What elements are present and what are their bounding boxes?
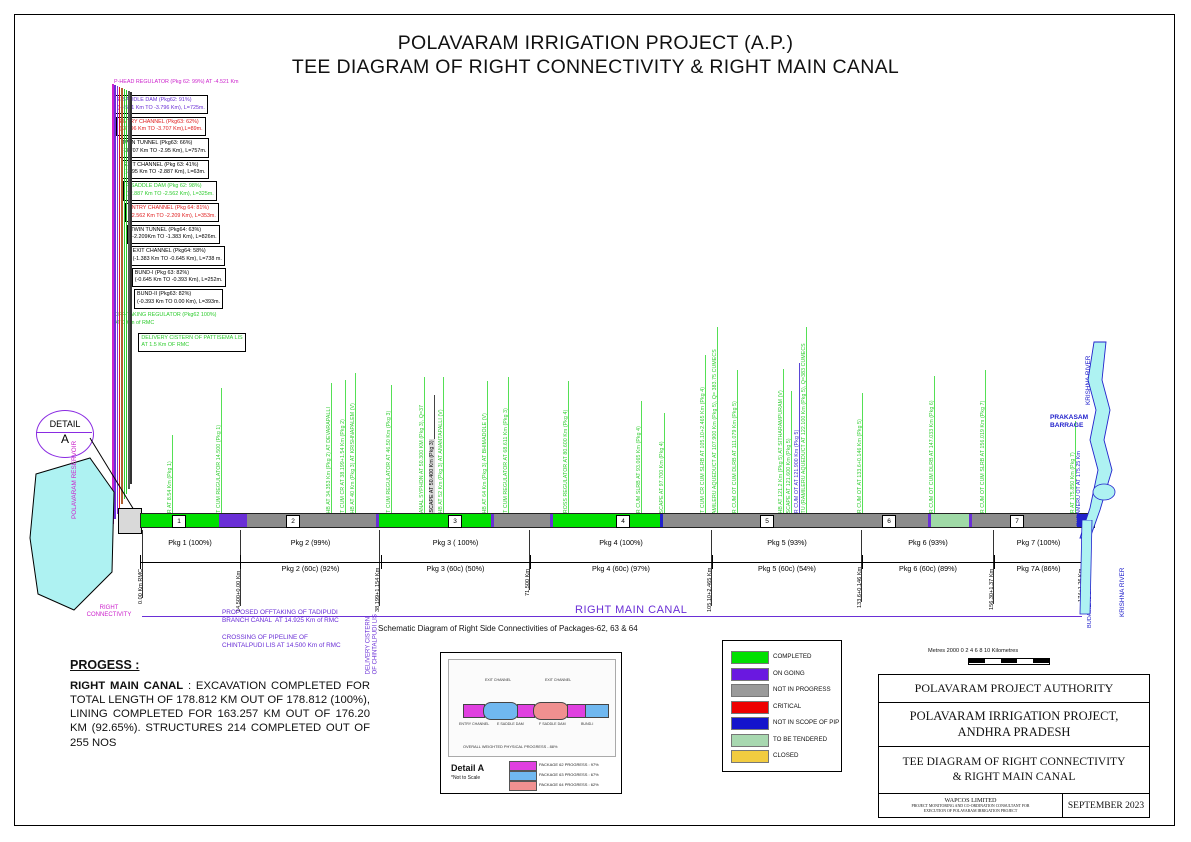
- structure-label-7: ESCAPE AT 50.400 Km (Pkg 3): [429, 439, 435, 517]
- inset-seg-saddle-f: [567, 704, 587, 718]
- progress-block: PROGESS : RIGHT MAIN CANAL : EXCAVATION …: [70, 658, 370, 750]
- scale-bar: Metres 2000 0 2 4 6 8 10 Kilometres: [928, 648, 1018, 654]
- canal-segment-9: [553, 513, 660, 528]
- canal-segment-13: [931, 513, 969, 528]
- package-number-5: 5: [760, 515, 774, 528]
- annotation-7: TWIN TUNNEL (Pkg64: 63%)(-2.209Km TO -1.…: [127, 225, 219, 244]
- detail-a-divider: [36, 432, 92, 433]
- inset-key-label-2: PACKAGE 64 PROGRESS : 62%: [539, 781, 599, 789]
- annotation-line1: F SADDLE DAM (Pkg 62: 98%): [126, 183, 214, 191]
- structure-label-13: ESCAPE AT 97.700 Km (Pkg 4): [659, 441, 665, 517]
- annotation-line1: ENTRY CHANNEL (Pkg 64: 81%): [128, 205, 216, 213]
- inset-seg-tunnel1: [483, 702, 519, 720]
- package-label-3: Pkg 3 ( 100%): [381, 538, 530, 547]
- structure-label-0: CR AT 8.54 Km (Pkg 1): [167, 461, 173, 517]
- page-subtitle: TEE DIAGRAM OF RIGHT CONNECTIVITY & RIGH…: [0, 56, 1191, 79]
- structure-label-18: ESCAPE AT 121.600 Km (Pkg 5): [786, 438, 792, 517]
- structure-label-12: CR CUM SLRB AT 93.065 Km (Pkg 4): [636, 426, 642, 517]
- annotation-8: EXIT CHANNEL (Pkg64: 58%)(-1.383 Km TO -…: [130, 246, 225, 265]
- annotation-line2: (-0.645 Km TO -0.393 Km), L=252m.: [135, 277, 223, 285]
- package-label-4: Pkg 4 (100%): [530, 538, 712, 547]
- canal-segment-2: [239, 513, 247, 528]
- inset-label-2: ENTRY CHANNEL: [459, 722, 489, 726]
- chintalpudi-callout: CROSSING OF PIPELINE OF CHINTALPUDI LIS …: [222, 634, 341, 650]
- rmc-label: RIGHT MAIN CANAL: [575, 604, 687, 616]
- annotation-line1: TWIN TUNNEL (Pkg63: 66%): [122, 140, 207, 148]
- package-sublabel-4: Pkg 4 (60c) (97%): [530, 564, 712, 573]
- krishna-river-shape: [1074, 340, 1134, 540]
- package-sublabel-3: Pkg 3 (60c) (50%): [381, 564, 530, 573]
- structure-label-10: OT CUM REGULATOR AT 68.611 Km (Pkg 3): [503, 408, 509, 517]
- legend-swatch-3: [731, 701, 769, 714]
- krishna-river-label-2: KRISHNA RIVER: [1119, 568, 1126, 617]
- legend-swatch-6: [731, 750, 769, 763]
- structure-label-9: SHB AT 64 Km (Pkg 3) AT BHIMADOLE (V): [482, 413, 488, 517]
- inset-label-3: EXIT CHANNEL: [545, 678, 571, 682]
- structure-label-15: TAMILERU AQUEDUCT AT 107.900 Km (Pkg 5),…: [712, 349, 718, 517]
- tb-consultant-sub: PROJECT MONITORING AND CO-ORDINATION CON…: [881, 804, 1060, 814]
- reservoir-label: POLAVARAM RESERVOIR: [71, 441, 78, 519]
- chainage-label-0: 0.00 Km RMC: [138, 569, 144, 604]
- package-dimtick-1-0: [140, 555, 141, 569]
- annotation-5: F SADDLE DAM (Pkg 62: 98%)(-2.887 Km TO …: [123, 181, 217, 200]
- detail-a-diagram: EXIT CHANNEL EXIT CHANNEL ENTRY CHANNEL …: [448, 659, 616, 757]
- package-dimline-6: [862, 562, 994, 563]
- annotation-line1: EXIT CHANNEL (Pkg64: 58%): [133, 248, 222, 256]
- inset-label-0: EXIT CHANNEL: [485, 678, 511, 682]
- inset-label-7: F SADDLE DAM: [539, 722, 566, 726]
- annotation-9: BUND-I (Pkg 63: 82%)(-0.645 Km TO -0.393…: [132, 268, 226, 287]
- structure-label-23: CR CUM OT CUM SLRB AT 156.019 Km (Pkg 7): [980, 401, 986, 517]
- inset-key-label-0: PACKAGE 62 PROGRESS : 97%: [539, 761, 599, 769]
- package-sublabel-6: Pkg 6 (60c) (89%): [862, 564, 994, 573]
- annotation-line2: (-2.209Km TO -1.383 Km), L=826m.: [130, 234, 216, 242]
- legend-box: COMPLETEDON GOINGNOT IN PROGRESSCRITICAL…: [722, 640, 842, 772]
- scale-ticks: 0 2 4 6 8: [961, 648, 984, 654]
- package-dimline-7: [994, 562, 1083, 563]
- annotation-4: EXIT CHANNEL (Pkg 63: 41%)(-2.95 Km TO -…: [121, 160, 209, 179]
- annotation-line2: (-2.562 Km TO -2.209 Km), L=353m.: [128, 213, 216, 221]
- legend-swatch-0: [731, 651, 769, 664]
- annotation-line2: AT 1.5 Km OF RMC: [141, 342, 242, 350]
- chainage-label-1: 14.500+0.00 Km: [236, 571, 242, 612]
- package-label-7: Pkg 7 (100%): [994, 538, 1083, 547]
- structure-label-4: SHB AT 40 Km (Pkg 3) AT KRISHNAPALEM (V): [350, 403, 356, 517]
- detail-a-marker: DETAIL A: [36, 410, 94, 458]
- legend-swatch-5: [731, 734, 769, 747]
- chainage-label-4: 105.10+2.465 Km: [707, 568, 713, 612]
- package-sublabel-2: Pkg 2 (60c) (92%): [240, 564, 381, 573]
- structure-label-19: CR CUM OT AT 121.900 Km (Pkg 5): [794, 430, 800, 517]
- annotation-3: TWIN TUNNEL (Pkg63: 66%)(-3.707 Km TO -2…: [119, 138, 210, 157]
- structure-label-20: ETU (RAMILERU AQUEDUCT AT 122.100 Km (Pk…: [801, 343, 807, 517]
- progress-lead: RIGHT MAIN CANAL: [70, 680, 183, 692]
- tb-project: POLAVARAM IRRIGATION PROJECT, ANDHRA PRA…: [879, 703, 1149, 747]
- legend-label-6: CLOSED: [773, 750, 798, 761]
- structure-label-17: SHB AT 121.2 Km (Pkg 5) AT SITHARAMPURAM…: [778, 390, 784, 517]
- canal-segment-1: [219, 513, 239, 528]
- structure-label-2: SHB AT 34.353 Km (Pkg 2) AT DEVARAPALLI: [326, 407, 332, 517]
- inset-title: Detail A: [451, 763, 484, 773]
- annotation-line2: (-1.383 Km TO -0.645 Km), L=738 m.: [133, 256, 222, 264]
- inset-key-swatch-1: [509, 771, 537, 781]
- annotation-line2: (-2.887 Km TO -2.562 Km), L=325m.: [126, 191, 214, 199]
- inset-key-swatch-2: [509, 781, 537, 791]
- tb-consultant: WAPCOS LIMITED: [881, 797, 1060, 804]
- legend-label-2: NOT IN PROGRESS: [773, 684, 831, 695]
- annotation-line1: BUND-I (Pkg 63: 82%): [135, 270, 223, 278]
- inset-label-6: E SADDLE DAM: [497, 722, 524, 726]
- annotation-line2: (-0.393 Km TO 0.00 Km), L=393m.: [137, 299, 220, 307]
- structure-label-3: OT CUM CR AT 38.199+1.54 Km (Pkg 2): [340, 419, 346, 517]
- annotation-0: P-HEAD REGULATOR (Pkg 62: 99%) AT -4.521…: [112, 78, 241, 88]
- tb-date: SEPTEMBER 2023: [1063, 794, 1149, 817]
- structure-label-14: OT CUM CR CUM SLRB AT 105.10+2.465 Km (P…: [700, 387, 706, 517]
- structure-label-16: CR CUM OT CUM DLRB AT 111.079 Km (Pkg 5): [732, 401, 738, 517]
- structure-label-6: CANAL SYPHON AT 50.300 KM (Pkg 3), Q=37: [419, 405, 425, 517]
- inset-overall-progress: OVERALL WEIGHTED PHYSICAL PROGRESS - 88%: [463, 744, 557, 749]
- annotation-line1: EXIT CHANNEL (Pkg 63: 41%): [124, 162, 206, 170]
- annotation-6: ENTRY CHANNEL (Pkg 64: 81%)(-2.562 Km TO…: [125, 203, 219, 222]
- legend-label-0: COMPLETED: [773, 651, 812, 662]
- detail-a-label: DETAIL: [37, 419, 93, 429]
- tadipudi-callout: PROPOSED OFFTAKING OF TADIPUDI BRANCH CA…: [222, 609, 339, 625]
- tb-drawing-title: TEE DIAGRAM OF RIGHT CONNECTIVITY & RIGH…: [879, 747, 1149, 794]
- right-connectivity-label: RIGHT CONNECTIVITY: [86, 605, 132, 619]
- progress-heading: PROGESS :: [70, 658, 370, 674]
- drawing-sheet: POLAVARAM IRRIGATION PROJECT (A.P.) TEE …: [0, 0, 1191, 842]
- annotation-line2: (-3.707 Km TO -2.95 Km), L=757m.: [122, 148, 207, 156]
- package-sublabel-5: Pkg 5 (60c) (54%): [712, 564, 862, 573]
- package-number-4: 4: [616, 515, 630, 528]
- inset-seg-bunds: [585, 704, 609, 718]
- package-number-3: 3: [448, 515, 462, 528]
- legend-swatch-2: [731, 684, 769, 697]
- scale-caption: Metres 2000: [928, 648, 959, 654]
- structure-label-22: CR CUM OT CUM DLRB AT 147.033 Km (Pkg 6): [929, 400, 935, 517]
- annotation-line1: P-HEAD REGULATOR (Pkg 62: 99%) AT -4.521…: [114, 79, 239, 87]
- canal-segment-5: [379, 513, 491, 528]
- title-block: POLAVARAM PROJECT AUTHORITY POLAVARAM IR…: [878, 674, 1150, 818]
- package-number-1: 1: [172, 515, 186, 528]
- annotation-12: DELIVERY CISTERN OF PATTISEMA LISAT 1.5 …: [138, 333, 245, 352]
- package-dimline-1: [140, 562, 240, 563]
- structure-label-8: SHB AT 52 Km (Pkg 3) AT ANANTAPALLI (V): [438, 409, 444, 517]
- chainage-label-6: 156.30+1.37 Km: [989, 569, 995, 610]
- canal-segment-7: [494, 513, 550, 528]
- package-number-2: 2: [286, 515, 300, 528]
- annotation-line2: (-2.95 Km TO -2.887 Km), L=63m.: [124, 169, 206, 177]
- legend-label-3: CRITICAL: [773, 701, 801, 712]
- structure-label-21: CR CUM OT AT 133.6+0.146 Km (Pkg 5): [857, 419, 863, 517]
- package-dimline-3: [381, 562, 530, 563]
- package-label-2: Pkg 2 (99%): [240, 538, 381, 547]
- scale-unit: 10 Kilometres: [984, 648, 1018, 654]
- structure-label-1: OT CUM REGULATOR 14.500 (Pkg 1): [216, 425, 222, 517]
- structure-label-11: CROSS REGULATOR AT 80.600 Km (Pkg 4): [563, 410, 569, 517]
- package-dimline-2: [240, 562, 381, 563]
- page-title: POLAVARAM IRRIGATION PROJECT (A.P.): [0, 32, 1191, 55]
- package-dimline-4: [530, 562, 712, 563]
- budameru-diversion-shape: [1078, 520, 1114, 616]
- chainage-label-2: 38.199+1.154 Km: [375, 568, 381, 612]
- schematic-note: Schematic Diagram of Right Side Connecti…: [378, 624, 638, 633]
- inset-key-label-1: PACKAGE 63 PROGRESS : 67%: [539, 771, 599, 779]
- inset-seg-entry1: [463, 704, 485, 718]
- inset-key-swatch-0: [509, 761, 537, 771]
- canal-segment-15: [972, 513, 1077, 528]
- package-label-5: Pkg 5 (93%): [712, 538, 862, 547]
- package-label-1: Pkg 1 (100%): [140, 538, 240, 547]
- annotation-line1: BUND-II (Pkg63: 82%): [137, 291, 220, 299]
- inset-label-8: BUND-I: [581, 722, 593, 726]
- legend-swatch-4: [731, 717, 769, 730]
- tb-authority: POLAVARAM PROJECT AUTHORITY: [879, 675, 1149, 703]
- detail-a-inset: EXIT CHANNEL EXIT CHANNEL ENTRY CHANNEL …: [440, 652, 622, 794]
- legend-label-5: TO BE TENDERED: [773, 734, 827, 745]
- package-label-6: Pkg 6 (93%): [862, 538, 994, 547]
- legend-swatch-1: [731, 668, 769, 681]
- package-number-6: 6: [882, 515, 896, 528]
- package-sublabel-7: Pkg 7A (86%): [994, 564, 1083, 573]
- legend-label-4: NOT IN SCOPE OF PIP: [773, 717, 839, 728]
- package-number-7: 7: [1010, 515, 1024, 528]
- package-dimline-5: [712, 562, 862, 563]
- detail-a-letter: A: [37, 432, 93, 446]
- annotation-line1: DELIVERY CISTERN OF PATTISEMA LIS: [141, 335, 242, 343]
- structure-label-5: OT CUM REGULATOR AT 46.50 Km (Pkg 3): [386, 411, 392, 517]
- scale-bar-graphic: [968, 658, 1050, 665]
- canal-segment-3: [247, 513, 376, 528]
- annotation-line1: TWIN TUNNEL (Pkg64: 63%): [130, 227, 216, 235]
- annotation-10: BUND-II (Pkg63: 82%)(-0.393 Km TO 0.00 K…: [134, 289, 223, 308]
- inset-seg-tunnel2: [533, 702, 569, 720]
- inset-note: *Not to Scale: [451, 775, 480, 781]
- legend-label-1: ON GOING: [773, 668, 805, 679]
